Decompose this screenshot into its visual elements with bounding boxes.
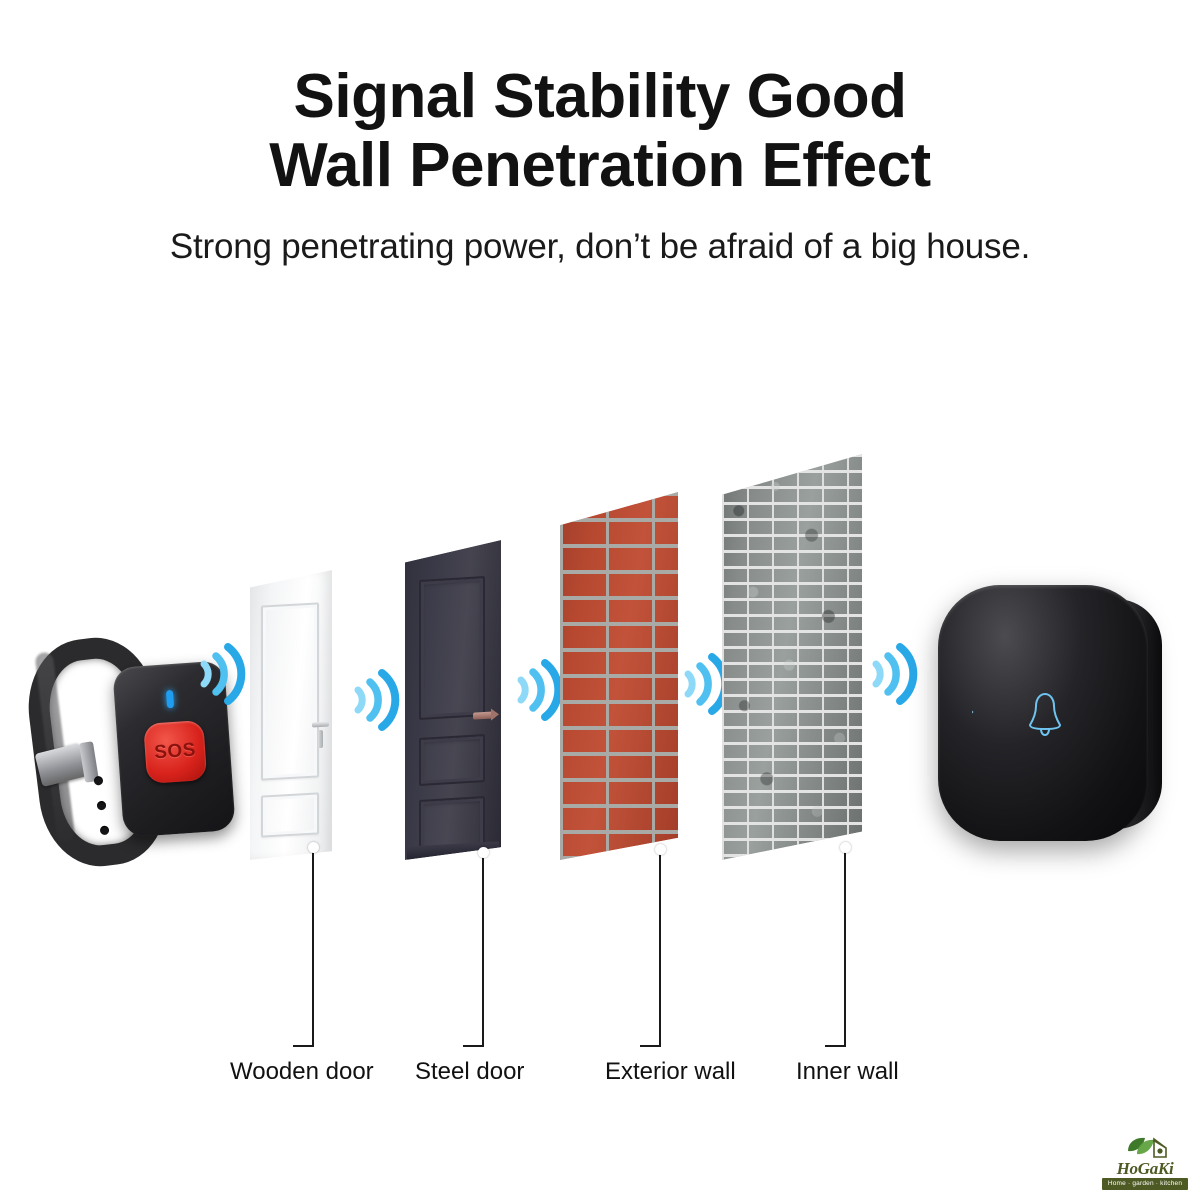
- infographic-canvas: Signal Stability Good Wall Penetration E…: [0, 0, 1200, 1200]
- leader-inner-wall: [825, 848, 845, 1046]
- label-exterior-wall: Exterior wall: [605, 1058, 736, 1086]
- anchor-dot-steel-door: [478, 847, 489, 858]
- logo-tagline: Home · garden · kitchen: [1102, 1178, 1188, 1190]
- barrier-labels: Wooden door Steel door Exterior wall Inn…: [0, 1058, 1200, 1098]
- leader-exterior-wall: [640, 850, 660, 1046]
- logo-wordmark: HoGaKi: [1098, 1159, 1192, 1179]
- brand-logo: HoGaKi Home · garden · kitchen: [1098, 1134, 1192, 1194]
- anchor-dot-inner-wall: [840, 842, 851, 853]
- label-wooden-door: Wooden door: [230, 1058, 374, 1086]
- label-steel-door: Steel door: [415, 1058, 524, 1086]
- anchor-dot-exterior-wall: [655, 844, 666, 855]
- leader-steel-door: [463, 853, 483, 1046]
- leader-lines: [0, 0, 1200, 1200]
- anchor-dot-wooden-door: [308, 842, 319, 853]
- house-leaf-icon: [1124, 1134, 1170, 1160]
- label-inner-wall: Inner wall: [796, 1058, 899, 1086]
- leader-wooden-door: [293, 848, 313, 1046]
